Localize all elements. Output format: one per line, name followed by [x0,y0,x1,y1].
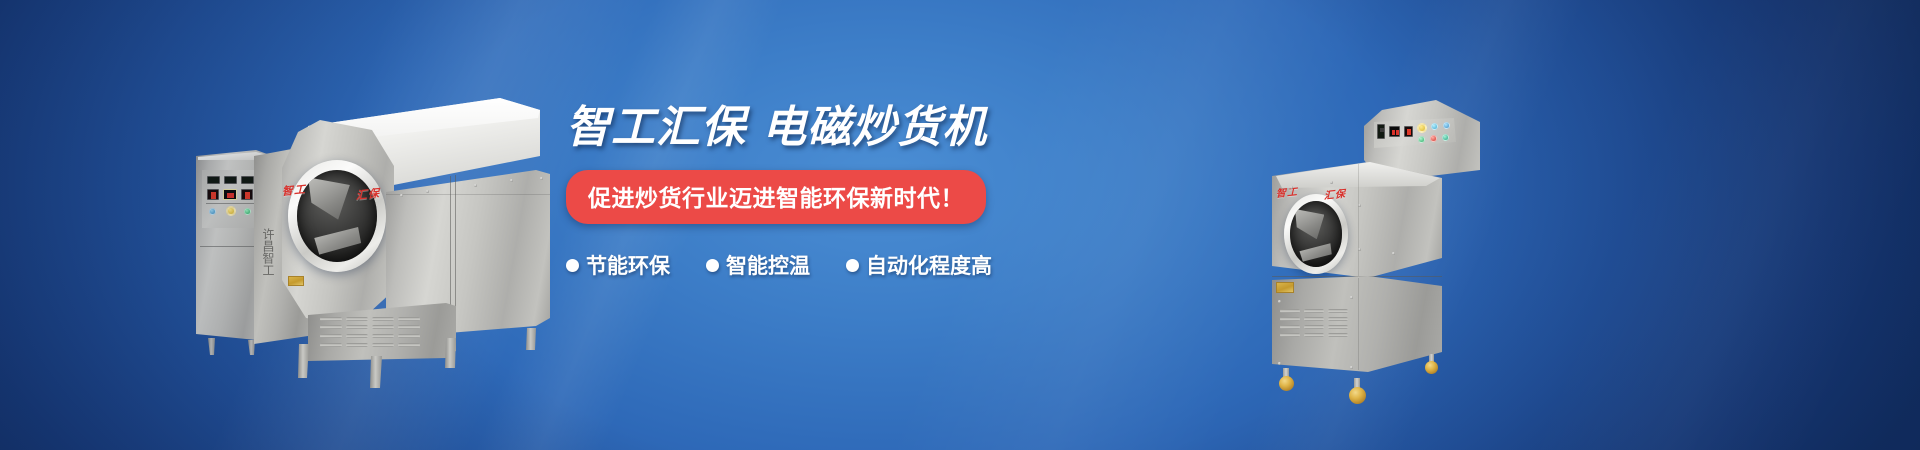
machine-left-side-text: 许昌智工 [260,228,276,298]
bullet-dot-icon [846,259,859,272]
display-readout [207,176,220,184]
feature-label: 自动化程度高 [866,250,992,280]
machine-right-brand-mark-2: 汇保 [1324,185,1346,202]
slogan-badge: 促进炒货行业迈进智能环保新时代！ [566,170,986,224]
light-streak [1476,0,1920,450]
promo-banner: 许昌智工 智工 汇保 [0,0,1920,450]
roasting-drum-opening [1284,194,1348,274]
button-mode[interactable] [1442,134,1449,141]
timer-display [223,189,237,200]
caster-wheel [1278,368,1296,394]
roasting-drum-opening [288,160,386,272]
bullet-dot-icon [566,259,579,272]
feature-item-3: 自动化程度高 [846,250,992,280]
indicator-lamp-cyan[interactable] [1431,123,1438,130]
emergency-stop-knob[interactable] [226,206,236,216]
caster-wheel [1424,354,1440,378]
bullet-dot-icon [706,259,719,272]
machine-right-spec-plate [1276,282,1294,293]
feature-list: 节能环保 智能控温 自动化程度高 [566,250,1036,280]
machine-left-spec-plate [288,276,304,286]
machine-right: 智工 汇保 [1272,100,1502,360]
feature-label: 节能环保 [586,250,670,280]
indicator-lamp-blue[interactable] [209,208,216,215]
button-stop[interactable] [1430,135,1437,142]
feature-item-2: 智能控温 [706,250,810,280]
timer-display [1389,126,1400,137]
display-readout [1377,124,1385,139]
headline-brand: 智工汇保 [566,103,746,152]
display-readout [224,176,237,184]
temperature-display [1404,126,1413,137]
machine-left: 许昌智工 智工 汇保 [240,98,560,358]
machine-left-brand-mark-2: 汇保 [356,185,380,204]
temperature-display [207,189,219,200]
headline-product: 电磁炒货机 [762,103,987,152]
page-title: 智工汇保电磁炒货机 [566,105,1036,151]
feature-label: 智能控温 [726,250,810,280]
machine-left-brand-mark-1: 智工 [282,181,306,200]
emergency-stop-knob[interactable] [1417,123,1427,133]
caster-wheel [1348,378,1368,406]
button-start[interactable] [1418,136,1425,143]
machine-right-brand-mark-1: 智工 [1276,183,1298,200]
feature-item-1: 节能环保 [566,250,670,280]
indicator-lamp-blue[interactable] [1443,122,1450,129]
banner-copy: 智工汇保电磁炒货机 促进炒货行业迈进智能环保新时代！ 节能环保 智能控温 自动化… [566,105,1036,280]
